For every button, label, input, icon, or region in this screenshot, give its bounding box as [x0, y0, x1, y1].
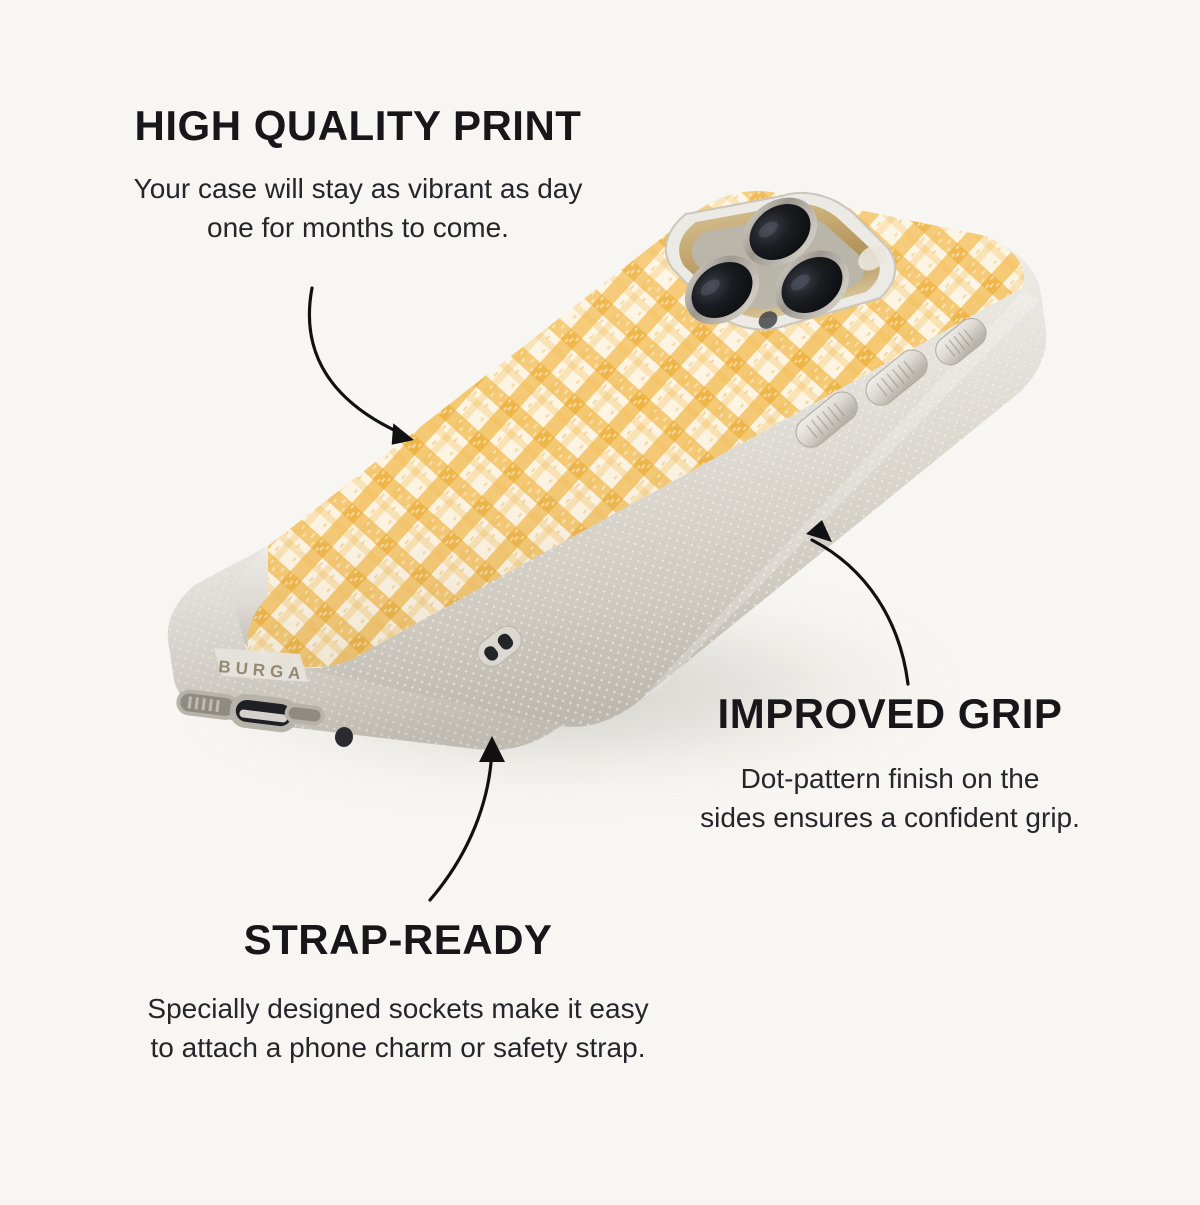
- feature-desc-line-1: Dot-pattern finish on the: [741, 763, 1040, 794]
- feature-improved-grip: IMPROVED GRIP Dot-pattern finish on the …: [640, 692, 1140, 837]
- infographic-canvas: BURGA: [0, 0, 1200, 1200]
- feature-desc-line-1: Your case will stay as vibrant as day: [134, 173, 583, 204]
- feature-description-high-quality-print: Your case will stay as vibrant as day on…: [58, 170, 658, 247]
- feature-strap-ready: STRAP-READY Specially designed sockets m…: [48, 918, 748, 1067]
- feature-desc-line-2: one for months to come.: [207, 212, 509, 243]
- feature-desc-line-1: Specially designed sockets make it easy: [147, 993, 648, 1024]
- feature-desc-line-2: sides ensures a confident grip.: [700, 802, 1080, 833]
- feature-description-improved-grip: Dot-pattern finish on the sides ensures …: [640, 760, 1140, 837]
- feature-title-strap-ready: STRAP-READY: [48, 918, 748, 962]
- feature-desc-line-2: to attach a phone charm or safety strap.: [151, 1032, 646, 1063]
- feature-high-quality-print: HIGH QUALITY PRINT Your case will stay a…: [58, 104, 658, 247]
- feature-title-high-quality-print: HIGH QUALITY PRINT: [58, 104, 658, 148]
- feature-description-strap-ready: Specially designed sockets make it easy …: [48, 990, 748, 1067]
- feature-title-improved-grip: IMPROVED GRIP: [640, 692, 1140, 736]
